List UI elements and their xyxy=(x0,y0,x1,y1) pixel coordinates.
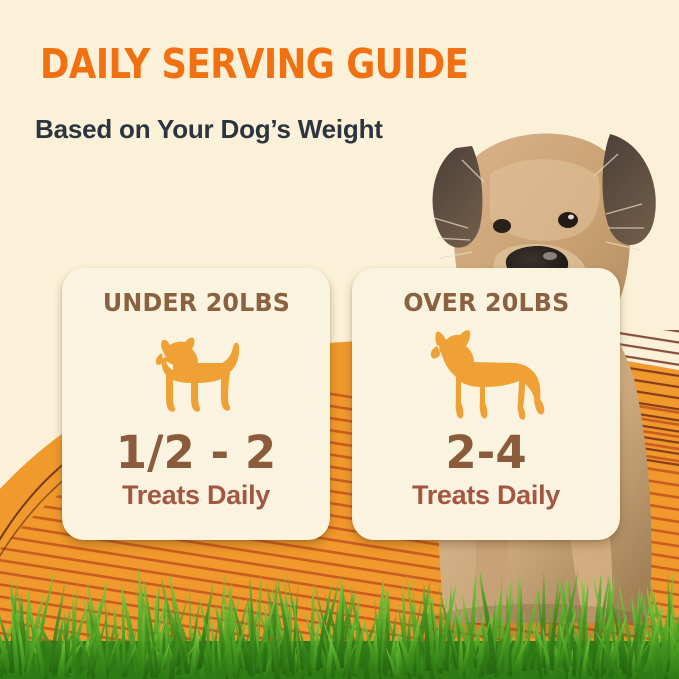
card-amount: 2-4 xyxy=(445,430,526,475)
serving-card-under-20lbs[interactable]: UNDER 20LBS 1/2 - 2 Treats Daily xyxy=(62,268,330,540)
small-dog-silhouette-icon xyxy=(136,323,256,423)
card-sublabel: Treats Daily xyxy=(122,482,270,509)
page-subtitle: Based on Your Dog’s Weight xyxy=(35,116,383,142)
serving-card-over-20lbs[interactable]: OVER 20LBS 2-4 Treats Daily xyxy=(352,268,620,540)
large-dog-silhouette-icon xyxy=(411,323,561,423)
card-amount: 1/2 - 2 xyxy=(116,430,276,475)
card-heading: OVER 20LBS xyxy=(403,288,569,317)
card-sublabel: Treats Daily xyxy=(412,482,560,509)
serving-guide-infographic: DAILY SERVING GUIDE Based on Your Dog’s … xyxy=(0,0,679,679)
grass-foreground xyxy=(0,567,679,679)
card-heading: UNDER 20LBS xyxy=(102,288,289,317)
page-title: DAILY SERVING GUIDE xyxy=(40,44,468,85)
